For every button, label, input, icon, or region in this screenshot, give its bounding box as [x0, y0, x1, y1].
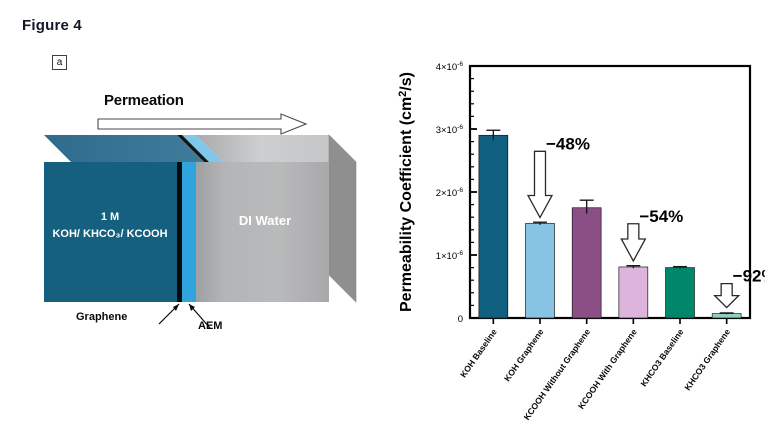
- bar: [526, 224, 555, 319]
- x-axis-category-label: KHCO3 Graphene: [682, 327, 732, 392]
- plot-frame: [470, 66, 750, 318]
- x-axis-category-label: KOH Graphene: [502, 327, 546, 383]
- y-axis-tick-label: 3×10-6: [436, 124, 464, 136]
- bar: [666, 268, 695, 318]
- graphene-label: Graphene: [76, 311, 127, 323]
- aem-label: AEM: [198, 320, 222, 332]
- bar: [619, 267, 648, 318]
- bar: [712, 314, 741, 318]
- reduction-arrow-icon: [528, 151, 552, 217]
- y-axis-tick-label: 2×10-6: [436, 187, 464, 199]
- y-axis-tick-label: 1×10-6: [436, 250, 464, 262]
- bar: [479, 135, 508, 318]
- y-axis-title: Permeability Coefficient (cm2/s): [397, 72, 415, 312]
- x-axis-category-label: KHCO3 Baseline: [638, 327, 685, 388]
- reduction-percent-label: −54%: [639, 207, 683, 226]
- y-axis-tick-label: 4×10-6: [436, 61, 464, 73]
- reduction-arrow-icon: [621, 224, 645, 261]
- reduction-percent-label: −48%: [546, 134, 590, 153]
- feed-concentration-text: 1 M: [101, 211, 119, 223]
- x-axis-category-label: KOH Baseline: [458, 327, 499, 379]
- panel-b-chart: b 01×10-62×10-63×10-64×10-6Permeability …: [385, 0, 765, 442]
- permeability-bar-chart: 01×10-62×10-63×10-64×10-6Permeability Co…: [385, 0, 765, 442]
- panel-a-schematic: a Permeation: [0, 0, 385, 442]
- reduction-percent-label: −92%: [733, 267, 765, 286]
- permeation-cell-diagram: 1 M KOH/ KHCO₃/ KCOOH DI Water: [0, 120, 385, 350]
- y-axis-tick-label: 0: [458, 314, 463, 325]
- bar: [572, 208, 601, 318]
- feed-electrolyte-text: KOH/ KHCO₃/ KCOOH: [52, 228, 167, 240]
- water-compartment-text: DI Water: [239, 213, 291, 228]
- panel-label-a: a: [52, 55, 67, 70]
- permeation-label: Permeation: [104, 92, 184, 109]
- reduction-arrow-icon: [715, 284, 739, 308]
